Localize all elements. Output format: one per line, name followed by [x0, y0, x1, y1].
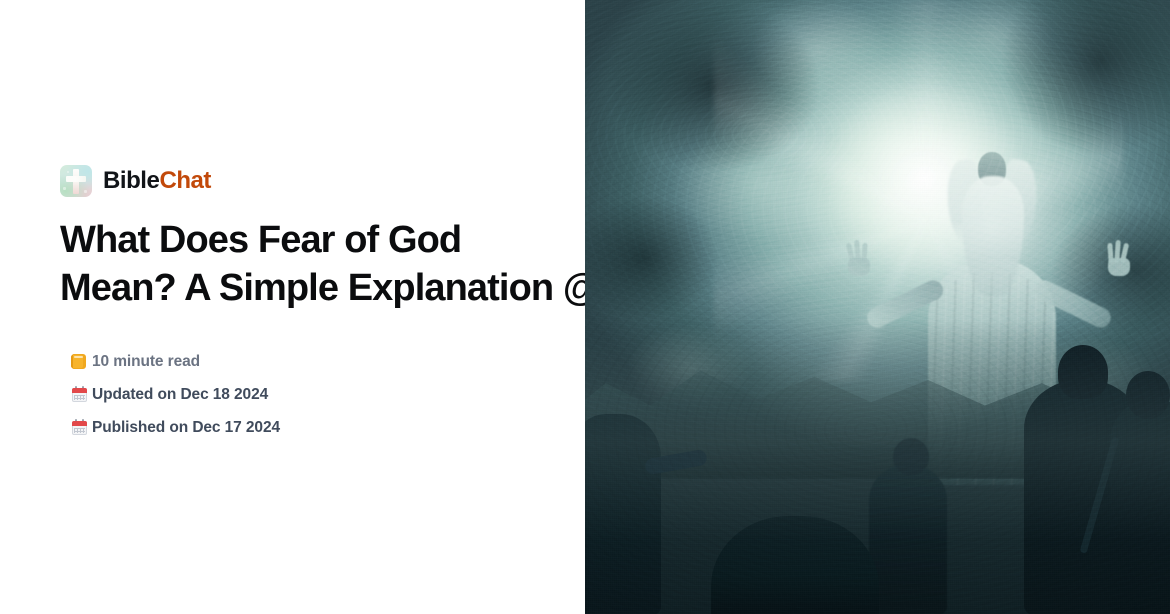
- book-page: [74, 356, 83, 358]
- meta-read-time-label: 10 minute read: [92, 352, 200, 371]
- calendar-emoji-icon: [60, 418, 79, 437]
- calendar-grid: [74, 428, 85, 433]
- book-emoji-icon: [60, 352, 79, 371]
- meta-row-published: Published on Dec 17 2024: [60, 416, 585, 438]
- logo-speck: [84, 190, 87, 193]
- hero-texture-overlay: [585, 0, 1170, 614]
- calendar-header: [72, 388, 87, 393]
- cross-logo-icon: [60, 165, 92, 197]
- meta-published-label: Published on Dec 17 2024: [92, 418, 280, 437]
- meta-row-updated: Updated on Dec 18 2024: [60, 383, 585, 405]
- article-content-block: BibleChat What Does Fear of God Mean? A …: [60, 163, 585, 438]
- calendar-header: [72, 421, 87, 426]
- brand-name-accent: Chat: [159, 167, 211, 194]
- page-title: What Does Fear of God Mean? A Simple Exp…: [60, 216, 585, 312]
- brand-name: BibleChat: [103, 169, 211, 193]
- calendar-grid: [74, 395, 85, 400]
- brand-name-primary: Bible: [103, 167, 159, 194]
- article-header-page: BibleChat What Does Fear of God Mean? A …: [0, 0, 1170, 614]
- calendar-emoji-icon: [60, 385, 79, 404]
- meta-updated-label: Updated on Dec 18 2024: [92, 385, 268, 404]
- hero-illustration: [585, 0, 1170, 614]
- page-title-line-2: Mean? A Simple Explanation @: [60, 264, 585, 312]
- article-text-panel: BibleChat What Does Fear of God Mean? A …: [0, 0, 585, 614]
- logo-speck: [63, 187, 66, 190]
- page-title-line-1: What Does Fear of God: [60, 216, 585, 264]
- meta-row-read-time: 10 minute read: [60, 350, 585, 372]
- logo-speck: [67, 171, 69, 173]
- article-meta-list: 10 minute read Updated on Dec 18 2024: [60, 350, 585, 438]
- brand-row[interactable]: BibleChat: [60, 163, 585, 199]
- cross-horizontal-bar: [66, 176, 86, 182]
